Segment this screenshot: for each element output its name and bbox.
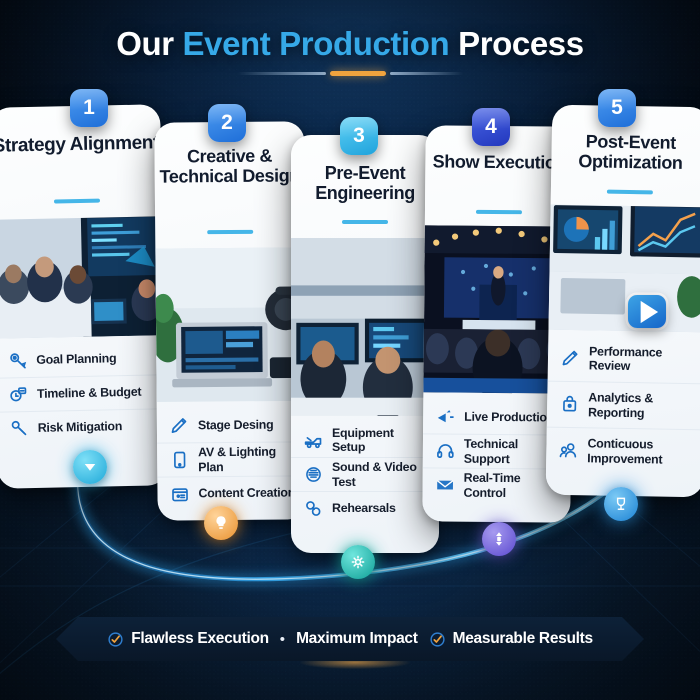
process-card-1[interactable]: Strategy Alignment [0, 104, 168, 488]
card-title-2: Creative & Technical Design [154, 145, 304, 187]
footer-label: Measurable Results [453, 630, 593, 648]
card-underline-3 [342, 220, 388, 224]
footer-label: Maximum Impact [296, 630, 418, 648]
shield-key-icon [9, 418, 30, 439]
list-item-label: Live Production [464, 410, 554, 425]
card-number-badge-3: 3 [340, 117, 378, 155]
connector-badge-4[interactable] [482, 522, 516, 556]
link-chain-icon [303, 498, 324, 519]
lightbulb-idea-icon [212, 514, 230, 532]
card-number-badge-5: 5 [598, 89, 636, 127]
lock-report-icon [559, 394, 580, 415]
play-icon [628, 293, 666, 331]
process-card-5[interactable]: Post-Event Optimization [546, 105, 700, 498]
list-item-label: Stage Desing [198, 417, 274, 432]
soundwave-icon [303, 464, 324, 485]
trophy-award-icon [612, 495, 630, 513]
list-item-label: Content Creation [198, 486, 295, 501]
card-title-5: Post-Event Optimization [551, 131, 700, 174]
footer-item: Measurable Results [429, 630, 593, 648]
connector-badge-3[interactable] [341, 545, 375, 579]
card-underline-5 [607, 190, 653, 195]
list-item-label: Timeline & Budget [37, 385, 142, 402]
list-item-label: Risk Mitigation [38, 419, 123, 435]
card-underline-1 [54, 199, 100, 204]
card-feature-list-2: Stage Desing AV & Lighting Plan Content … [157, 407, 308, 510]
list-item[interactable]: Content Creation [157, 475, 307, 510]
card-title-1: Strategy Alignment [0, 132, 161, 157]
check-circle-icon [429, 631, 446, 648]
card-photo-5 [548, 205, 700, 338]
tablet-icon [169, 449, 190, 470]
truck-setup-icon [303, 430, 324, 451]
list-item[interactable]: Performance Review [548, 335, 700, 384]
card-number-badge-1: 1 [70, 89, 108, 127]
footer-banner: Flawless Execution • Maximum Impact Meas… [56, 617, 644, 661]
process-card-2[interactable]: Creative & Technical Design [154, 121, 307, 520]
divider-accent [330, 71, 386, 76]
title-divider [238, 71, 463, 76]
list-item-label: Sound & Video Test [332, 460, 427, 489]
connector-badge-1[interactable] [73, 450, 107, 484]
list-item-label: Analytics & Reporting [588, 390, 653, 420]
card-feature-list-5: Performance Review Analytics & Reporting… [546, 335, 700, 476]
footer-item: Flawless Execution [107, 630, 269, 648]
footer-item: Maximum Impact [296, 630, 418, 648]
divider-right [390, 72, 463, 75]
gear-settings-icon [349, 553, 367, 571]
card-feature-list-3: Equipment Setup Sound & Video Test Rehea… [291, 423, 439, 525]
list-item-label: Goal Planning [36, 351, 116, 367]
list-item[interactable]: Equipment Setup [291, 423, 439, 457]
list-item[interactable]: Timeline & Budget [0, 374, 166, 412]
process-card-3[interactable]: Pre-Event Engineering Equipment [291, 135, 439, 553]
connector-badge-2[interactable] [204, 506, 238, 540]
card-number-badge-4: 4 [472, 108, 510, 146]
page-title: Our Event Production Process [0, 25, 700, 63]
divider-left [238, 72, 326, 75]
pen-ruler-icon [169, 415, 190, 436]
list-item[interactable]: Sound & Video Test [291, 457, 439, 491]
list-item-label: Conticuous Improvement [587, 436, 663, 466]
list-item-label: Technical Support [464, 437, 559, 467]
clock-budget-icon [8, 384, 29, 405]
target-pin-icon [7, 350, 28, 371]
card-photo-1 [0, 216, 165, 344]
play-button[interactable] [628, 295, 666, 328]
list-item[interactable]: Risk Mitigation [0, 408, 167, 446]
share-nodes-icon [490, 530, 508, 548]
card-photo-3 [291, 238, 439, 423]
list-item[interactable]: Conticuous Improvement [546, 427, 700, 476]
folder-star-icon [169, 483, 190, 504]
connector-badge-5[interactable] [604, 487, 638, 521]
card-title-3: Pre-Event Engineering [291, 163, 439, 203]
list-item[interactable]: Stage Desing [157, 407, 307, 442]
card-number-badge-2: 2 [208, 104, 246, 142]
list-item-label: Rehearsals [332, 501, 396, 515]
people-group-icon [558, 440, 579, 461]
chevron-down-icon [81, 458, 99, 476]
card-feature-list-1: Goal Planning Timeline & Budget Risk Mit… [0, 340, 167, 446]
broadcast-icon [435, 406, 456, 427]
title-part-pre: Our [116, 25, 182, 62]
check-circle-icon [107, 631, 124, 648]
envelope-icon [435, 474, 456, 495]
header: Our Event Production Process [0, 0, 700, 92]
list-item-label: Performance Review [589, 344, 663, 374]
title-part-highlight: Event Production [183, 25, 450, 62]
list-item-label: Equipment Setup [332, 426, 427, 455]
footer-separator: • [280, 631, 285, 648]
list-item[interactable]: Goal Planning [0, 340, 166, 378]
headset-icon [435, 440, 456, 461]
list-item-label: AV & Lighting Plan [198, 445, 295, 475]
list-item-label: Real-Time Control [463, 471, 558, 501]
list-item[interactable]: Analytics & Reporting [547, 381, 700, 430]
card-underline-2 [207, 230, 253, 234]
list-item[interactable]: AV & Lighting Plan [157, 441, 307, 476]
card-photo-2 [155, 247, 306, 408]
chart-pen-icon [560, 347, 581, 368]
list-item[interactable]: Rehearsals [291, 491, 439, 525]
title-part-post: Process [449, 25, 583, 62]
footer-label: Flawless Execution [131, 630, 269, 648]
card-underline-4 [476, 210, 522, 214]
